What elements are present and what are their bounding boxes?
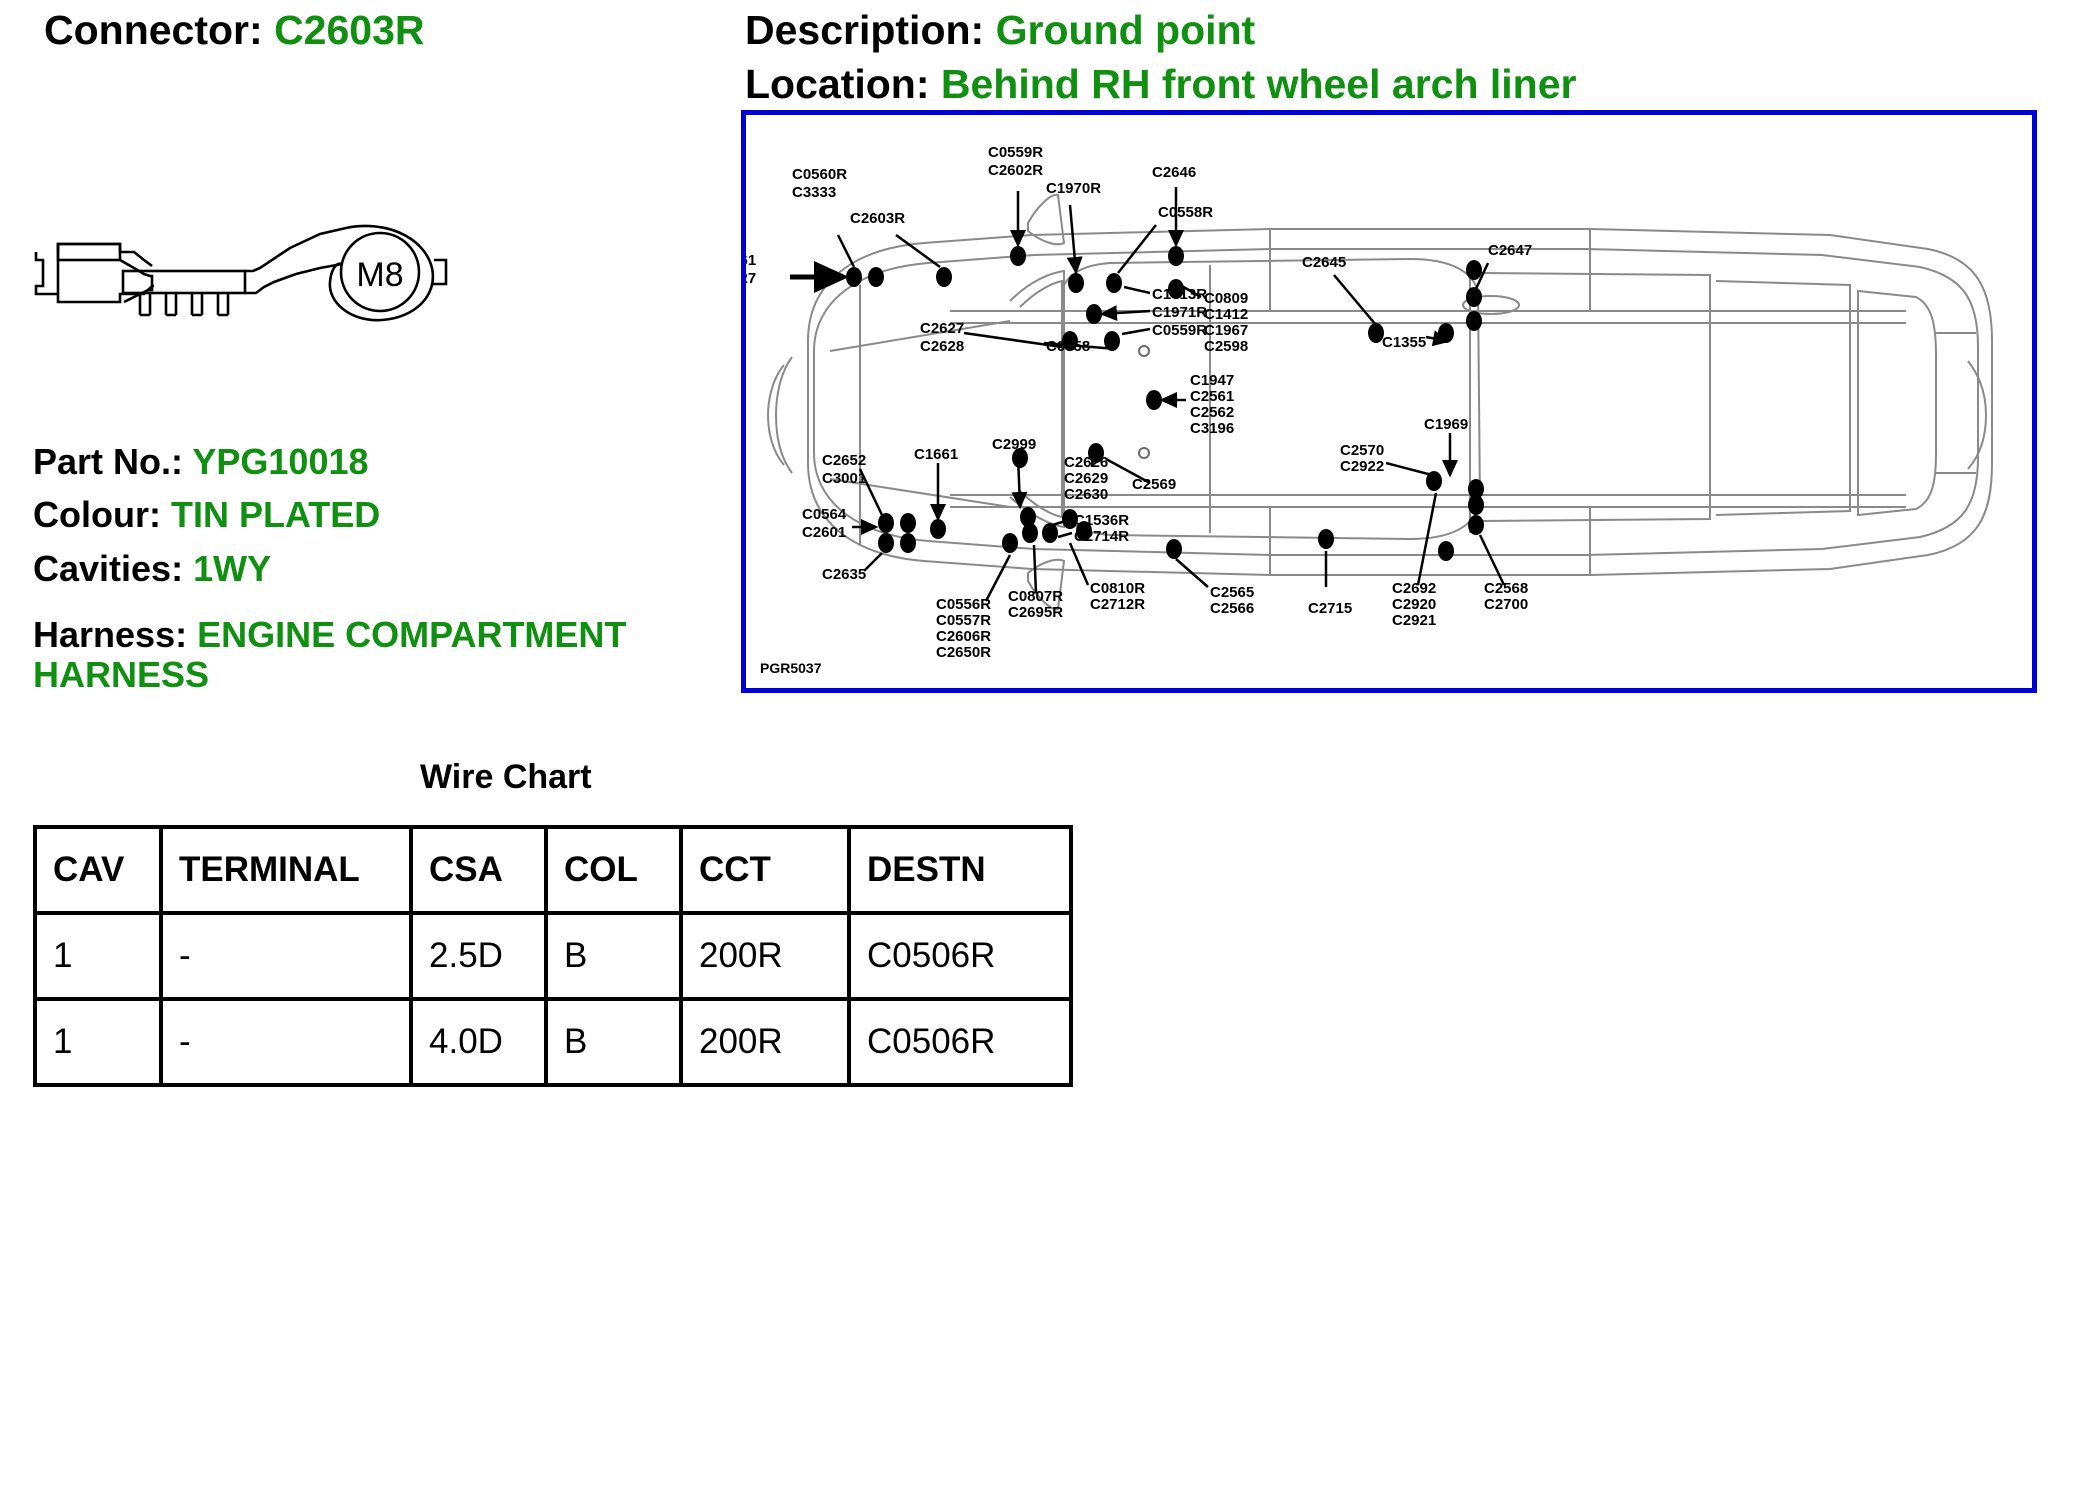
- callout-c0557r: C0557R: [936, 612, 991, 629]
- column-header-destn: DESTN: [849, 827, 1071, 913]
- connector-header: Connector: C2603R: [44, 9, 425, 52]
- callout-c2630: C2630: [1064, 486, 1108, 503]
- table-row: 1 - 4.0D B 200R C0506R: [35, 999, 1071, 1085]
- wire-chart-table: CAV TERMINAL CSA COL CCT DESTN 1 - 2.5D …: [33, 825, 1073, 1087]
- callout-c0809: C0809: [1204, 290, 1248, 307]
- callout-c2920: C2920: [1392, 596, 1436, 613]
- cell-csa: 2.5D: [411, 913, 546, 999]
- cell-cct: 200R: [681, 999, 849, 1085]
- callout-c1413r: C1413R: [1152, 286, 1207, 303]
- callout-c1661: C1661: [914, 446, 958, 463]
- wire-chart-header-row: CAV TERMINAL CSA COL CCT DESTN: [35, 827, 1071, 913]
- callout-c1969: C1969: [1424, 416, 1468, 433]
- cell-terminal: -: [161, 913, 411, 999]
- cavities-value: 1WY: [193, 548, 271, 589]
- callout-c2646: C2646: [1152, 164, 1196, 181]
- callout-c2692: C2692: [1392, 580, 1436, 597]
- column-header-cav: CAV: [35, 827, 161, 913]
- location-header: Location: Behind RH front wheel arch lin…: [745, 63, 1576, 106]
- callout-c2561: C2561: [1190, 388, 1234, 405]
- callout-c0560r-c3333-line1: C0560R: [792, 166, 847, 183]
- callout-c2922: C2922: [1340, 458, 1384, 475]
- callout-c2598: C2598: [1204, 338, 1248, 355]
- callout-c0558r: C0558R: [1158, 204, 1213, 221]
- vehicle-location-diagram: C0560R C3333 C0561 C2927 C2603R C0559R C…: [741, 110, 2037, 693]
- callout-c0560r-c3333-line2: C3333: [792, 184, 836, 201]
- cell-cct: 200R: [681, 913, 849, 999]
- harness-label: Harness:: [33, 614, 187, 655]
- callout-c1355: C1355: [1382, 334, 1426, 351]
- column-header-cct: CCT: [681, 827, 849, 913]
- callout-labels: C0560R C3333 C0561 C2927 C2603R C0559R C…: [746, 144, 1532, 661]
- callout-c2695r: C2695R: [1008, 604, 1063, 621]
- wire-chart-title: Wire Chart: [420, 758, 592, 797]
- callout-c0559r-c2602r-line1: C0559R: [988, 144, 1043, 161]
- colour-label: Colour:: [33, 494, 161, 535]
- part-no-label: Part No.:: [33, 441, 183, 482]
- callout-c1412: C1412: [1204, 306, 1248, 323]
- callout-c2569: C2569: [1132, 476, 1176, 493]
- callout-c2570: C2570: [1340, 442, 1384, 459]
- callout-c2606r: C2606R: [936, 628, 991, 645]
- callout-c2712r: C2712R: [1090, 596, 1145, 613]
- callout-c1967: C1967: [1204, 322, 1248, 339]
- callout-c2647: C2647: [1488, 242, 1532, 259]
- cell-col: B: [546, 913, 681, 999]
- cell-terminal: -: [161, 999, 411, 1085]
- callout-c3196: C3196: [1190, 420, 1234, 437]
- callout-c2635: C2635: [822, 566, 866, 583]
- grommet-marker: [1139, 346, 1149, 356]
- terminal-illustration: M8: [28, 190, 448, 325]
- location-label: Location:: [745, 61, 929, 107]
- callout-c2714r: C2714R: [1074, 528, 1129, 545]
- location-value: Behind RH front wheel arch liner: [941, 61, 1577, 107]
- cavities-label: Cavities:: [33, 548, 183, 589]
- callout-c2562: C2562: [1190, 404, 1234, 421]
- cell-csa: 4.0D: [411, 999, 546, 1085]
- callout-c2568: C2568: [1484, 580, 1528, 597]
- callout-c0558: C0558: [1046, 338, 1090, 355]
- callout-c1536r: C1536R: [1074, 512, 1129, 529]
- callout-c0564: C0564: [802, 506, 847, 523]
- callout-c2628: C2628: [920, 338, 964, 355]
- description-value: Ground point: [996, 7, 1256, 53]
- description-label: Description:: [745, 7, 984, 53]
- callout-c1947: C1947: [1190, 372, 1234, 389]
- callout-c2645: C2645: [1302, 254, 1346, 271]
- drawing-code-label: PGR5037: [760, 660, 822, 676]
- cell-destn: C0506R: [849, 913, 1071, 999]
- colour-row: Colour: TIN PLATED: [33, 495, 380, 535]
- connector-label: Connector:: [44, 7, 263, 53]
- cell-col: B: [546, 999, 681, 1085]
- callout-c0561-c2927-line2: C2927: [746, 270, 756, 287]
- table-row: 1 - 2.5D B 200R C0506R: [35, 913, 1071, 999]
- description-header: Description: Ground point: [745, 9, 1255, 52]
- cell-destn: C0506R: [849, 999, 1071, 1085]
- colour-value: TIN PLATED: [171, 494, 380, 535]
- callout-c3001: C3001: [822, 470, 866, 487]
- callout-c2626: C2626: [1064, 454, 1108, 471]
- part-no-row: Part No.: YPG10018: [33, 442, 369, 482]
- vehicle-outline: [768, 229, 1992, 575]
- column-header-col: COL: [546, 827, 681, 913]
- part-no-value: YPG10018: [192, 441, 368, 482]
- harness-row: Harness: ENGINE COMPARTMENT HARNESS: [33, 615, 693, 696]
- column-header-terminal: TERMINAL: [161, 827, 411, 913]
- cell-cav: 1: [35, 913, 161, 999]
- callout-c2627: C2627: [920, 320, 964, 337]
- callout-c2629: C2629: [1064, 470, 1108, 487]
- callout-c2601: C2601: [802, 524, 846, 541]
- callout-c2650r: C2650R: [936, 644, 991, 661]
- callout-c2566: C2566: [1210, 600, 1254, 617]
- callout-c2999: C2999: [992, 436, 1036, 453]
- callout-c2700: C2700: [1484, 596, 1528, 613]
- callout-c2921: C2921: [1392, 612, 1436, 629]
- vehicle-diagram-svg: C0560R C3333 C0561 C2927 C2603R C0559R C…: [746, 115, 2032, 688]
- callout-c2603r: C2603R: [850, 210, 905, 227]
- callout-c0556r: C0556R: [936, 596, 991, 613]
- callout-c0807r: C0807R: [1008, 588, 1063, 605]
- callout-c0559r-c2602r-line2: C2602R: [988, 162, 1043, 179]
- callout-c1971r: C1971R: [1152, 304, 1207, 321]
- grommet-marker: [1139, 448, 1149, 458]
- callout-c0561-c2927-line1: C0561: [746, 252, 756, 269]
- callout-c1970r: C1970R: [1046, 180, 1101, 197]
- terminal-drawing-svg: M8: [28, 190, 448, 325]
- connector-value: C2603R: [274, 7, 424, 53]
- callout-c0810r: C0810R: [1090, 580, 1145, 597]
- callout-c0559r-lower: C0559R: [1152, 322, 1207, 339]
- callout-c2652: C2652: [822, 452, 866, 469]
- cavities-row: Cavities: 1WY: [33, 549, 271, 589]
- cell-cav: 1: [35, 999, 161, 1085]
- column-header-csa: CSA: [411, 827, 546, 913]
- terminal-ring-size-label: M8: [356, 256, 403, 294]
- callout-c2715: C2715: [1308, 600, 1352, 617]
- callout-c2565: C2565: [1210, 584, 1254, 601]
